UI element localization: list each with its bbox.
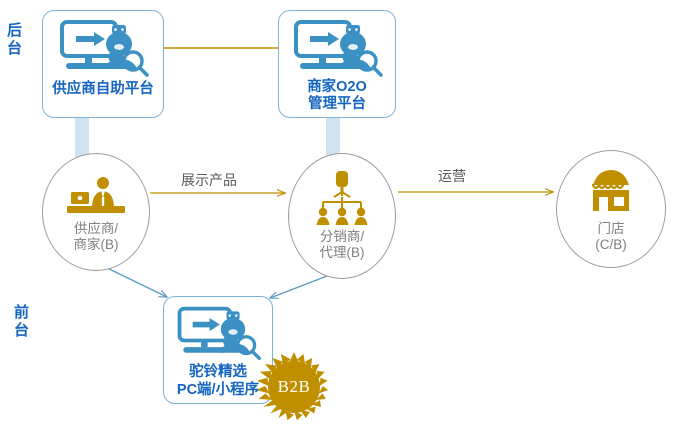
node-title-merchant-platform-line1: 商家O2O — [307, 79, 367, 96]
node-label-supplier-line1: 供应商/ — [74, 221, 118, 237]
node-title-supplier-platform: 供应商自助平台 — [52, 81, 154, 98]
monitor-person-search-icon — [172, 303, 264, 363]
node-label-store-line1: 门店 — [598, 221, 625, 237]
badge-b2b-label: B2B — [258, 352, 330, 422]
node-merchant-platform[interactable]: 商家O2O 管理平台 — [278, 10, 396, 118]
node-title-camel-platform-line1: 驼铃精选 — [189, 364, 247, 381]
org-chart-people-icon — [314, 170, 370, 226]
node-label-distributor-line2: 代理(B) — [320, 245, 365, 261]
node-role-distributor[interactable]: 分销商/ 代理(B) — [288, 153, 396, 279]
node-label-store-line2: (C/B) — [595, 237, 627, 253]
monitor-person-search-icon — [288, 17, 386, 79]
storefront-icon — [586, 169, 636, 213]
section-label-backend: 后台 — [7, 22, 29, 58]
diagram-canvas: 后台 前台 展示产品 运营 — [0, 0, 682, 424]
node-title-merchant-platform-line2: 管理平台 — [308, 96, 366, 113]
connector-distributor-to-camel — [270, 276, 327, 298]
node-supplier-platform[interactable]: 供应商自助平台 — [42, 10, 164, 118]
badge-b2b: B2B — [258, 352, 330, 422]
edge-label-operate: 运营 — [438, 168, 466, 185]
person-at-desk-icon — [65, 176, 127, 218]
monitor-person-search-icon — [54, 17, 152, 79]
node-label-distributor-line1: 分销商/ — [320, 229, 364, 245]
node-role-supplier[interactable]: 供应商/ 商家(B) — [42, 153, 150, 271]
edge-label-show-product: 展示产品 — [181, 172, 237, 189]
node-label-supplier-line2: 商家(B) — [74, 237, 119, 253]
node-role-store[interactable]: 门店 (C/B) — [556, 150, 666, 268]
section-label-frontend: 前台 — [14, 304, 36, 340]
connector-supplier-to-camel — [103, 266, 167, 297]
node-title-camel-platform-line2: PC端/小程序 — [177, 382, 259, 399]
node-camel-platform[interactable]: 驼铃精选 PC端/小程序 — [163, 296, 273, 404]
